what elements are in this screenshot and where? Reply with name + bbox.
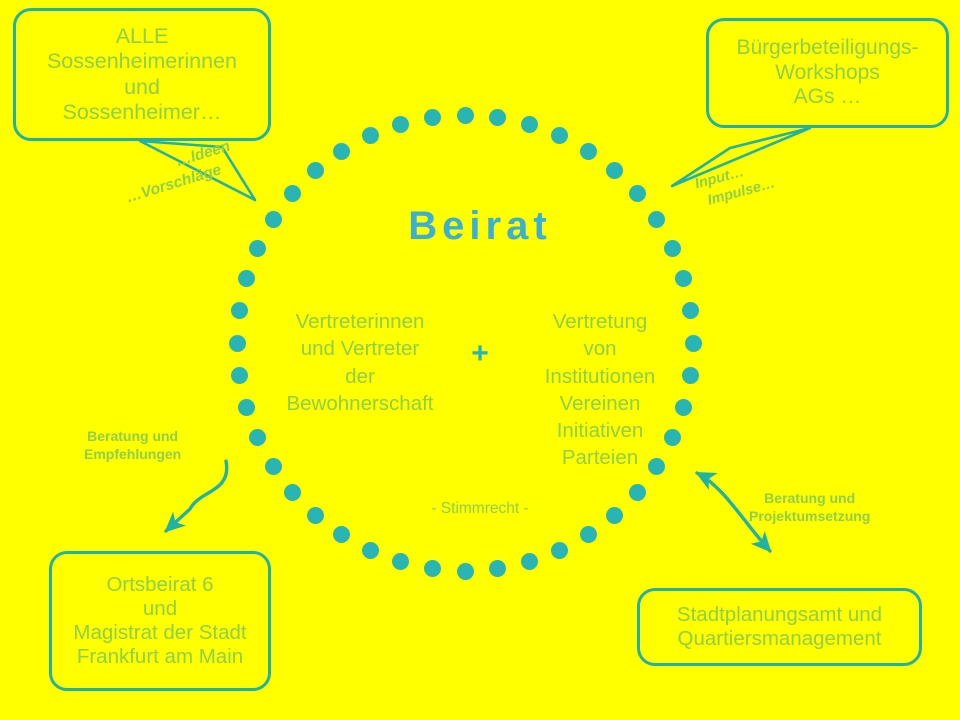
- ring-dot: [551, 542, 568, 559]
- ring-dot: [580, 143, 597, 160]
- col-left-line-2: und Vertreter: [265, 335, 455, 362]
- ring-dot: [457, 563, 474, 580]
- bubble-ortsbeirat-line-1: Ortsbeirat 6: [106, 573, 213, 597]
- ring-dot: [424, 109, 441, 126]
- plus-sign: +: [455, 308, 505, 373]
- bubble-workshops-line-1: Bürgerbeteiligungs-: [736, 36, 918, 61]
- beirat-members-residents: Vertreterinnen und Vertreter der Bewohne…: [265, 308, 455, 417]
- ring-dot: [362, 127, 379, 144]
- ring-dot: [307, 162, 324, 179]
- col-right-line-1: Vertretung: [505, 308, 695, 335]
- ring-dot: [362, 542, 379, 559]
- annotation-beratung-projekt-line-2: Projektumsetzung: [749, 507, 870, 525]
- ring-dot: [424, 560, 441, 577]
- bubble-stadtplanungsamt-quartiersmanagement[interactable]: Stadtplanungsamt und Quartiersmanagement: [637, 588, 922, 666]
- col-right-line-4: Vereinen: [505, 390, 695, 417]
- ring-dot: [551, 127, 568, 144]
- ring-dot: [521, 553, 538, 570]
- ring-dot: [238, 270, 255, 287]
- ring-dot: [521, 116, 538, 133]
- col-right-line-3: Institutionen: [505, 363, 695, 390]
- beirat-title: Beirat: [0, 204, 960, 249]
- ring-dot: [284, 484, 301, 501]
- ring-dot: [580, 526, 597, 543]
- bubble-ortsbeirat-magistrat[interactable]: Ortsbeirat 6 und Magistrat der Stadt Fra…: [49, 551, 271, 691]
- beirat-composition: Vertreterinnen und Vertreter der Bewohne…: [240, 308, 720, 472]
- col-left-line-4: Bewohnerschaft: [265, 390, 455, 417]
- bubble-stadtplanung-line-1: Stadtplanungsamt und: [677, 603, 882, 627]
- ring-dot: [392, 116, 409, 133]
- bubble-workshops-line-3: AGs …: [794, 85, 862, 110]
- bubble-ortsbeirat-line-4: Frankfurt am Main: [77, 645, 243, 669]
- bubble-workshops-line-2: Workshops: [775, 61, 880, 86]
- bubble-alle-line-3: und: [124, 75, 160, 100]
- col-right-line-6: Parteien: [505, 444, 695, 471]
- ring-dot: [629, 484, 646, 501]
- annotation-beratung-empfehlungen-line-2: Empfehlungen: [84, 445, 181, 463]
- bubble-alle-line-1: ALLE: [116, 24, 169, 49]
- beirat-members-institutions: Vertretung von Institutionen Vereinen In…: [505, 308, 695, 472]
- col-right-line-2: von: [505, 335, 695, 362]
- bubble-stadtplanung-line-2: Quartiersmanagement: [678, 627, 882, 651]
- annotation-beratung-projektumsetzung: Beratung und Projektumsetzung: [749, 489, 870, 525]
- ring-dot: [333, 143, 350, 160]
- bubble-ortsbeirat-line-2: und: [143, 597, 177, 621]
- ring-dot: [284, 185, 301, 202]
- ring-dot: [489, 560, 506, 577]
- annotation-beratung-projekt-line-1: Beratung und: [749, 489, 870, 507]
- ring-dot: [606, 162, 623, 179]
- annotation-beratung-empfehlungen: Beratung und Empfehlungen: [84, 427, 181, 463]
- annotation-beratung-empfehlungen-line-1: Beratung und: [84, 427, 181, 445]
- ring-dot: [629, 185, 646, 202]
- ring-dot: [392, 553, 409, 570]
- bubble-alle-sossenheimer[interactable]: ALLE Sossenheimerinnen und Sossenheimer…: [13, 8, 271, 141]
- bubble-alle-line-2: Sossenheimerinnen: [47, 49, 237, 74]
- bubble-ortsbeirat-line-3: Magistrat der Stadt: [73, 621, 246, 645]
- diagram-canvas: ALLE Sossenheimerinnen und Sossenheimer……: [0, 0, 960, 720]
- col-right-line-5: Initiativen: [505, 417, 695, 444]
- ring-dot: [457, 107, 474, 124]
- ring-dot: [333, 526, 350, 543]
- ring-dot: [675, 270, 692, 287]
- col-left-line-1: Vertreterinnen: [265, 308, 455, 335]
- ring-dot: [489, 109, 506, 126]
- bubble-alle-line-4: Sossenheimer…: [63, 100, 222, 125]
- bubble-buergerbeteiligungs-workshops[interactable]: Bürgerbeteiligungs- Workshops AGs …: [706, 18, 949, 128]
- col-left-line-3: der: [265, 363, 455, 390]
